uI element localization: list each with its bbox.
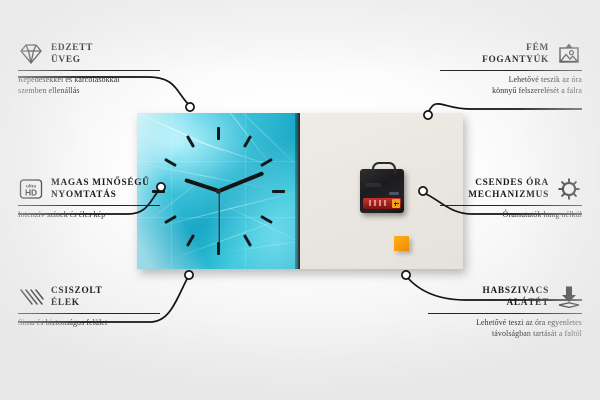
minute-hand bbox=[218, 171, 264, 193]
picture-hanger-icon bbox=[556, 41, 582, 67]
clock-tick bbox=[185, 234, 194, 247]
gear-icon bbox=[556, 176, 582, 202]
svg-text:HD: HD bbox=[25, 187, 37, 197]
foam-pad-arrow-icon bbox=[556, 284, 582, 310]
connector-metal-handles bbox=[428, 104, 582, 113]
clock-center-cap bbox=[216, 189, 221, 194]
clock-back-panel bbox=[300, 113, 463, 269]
callout-subtitle: Lehetővé teszik az óra könnyű felszerelé… bbox=[440, 75, 582, 96]
foam-spacer-pad bbox=[394, 236, 409, 251]
clock-face-panel bbox=[137, 113, 300, 269]
callout-subtitle: Repedésekkel és karcolásokkal szemben el… bbox=[18, 75, 160, 96]
mechanism-hook bbox=[372, 162, 396, 174]
callout-foam-pad[interactable]: HABSZIVACS ALÁTÉT Lehetővé teszi az óra … bbox=[428, 284, 582, 339]
clock-tick bbox=[217, 127, 220, 140]
callout-silent-mechanism[interactable]: CSENDES ÓRA MECHANIZMUS Óramutatók hang … bbox=[440, 176, 582, 221]
infographic-canvas: EDZETT ÜVEG Repedésekkel és karcolásokka… bbox=[0, 0, 600, 400]
connector-dot-tempered-glass bbox=[186, 103, 194, 111]
quartz-clock-mechanism bbox=[360, 169, 404, 213]
callout-title: FÉM FOGANTYÚK bbox=[482, 42, 549, 67]
callout-title: HABSZIVACS ALÁTÉT bbox=[483, 285, 549, 310]
polished-edges-icon bbox=[18, 284, 44, 310]
callout-rule bbox=[18, 205, 160, 206]
callout-metal-handles[interactable]: FÉM FOGANTYÚK Lehetővé teszik az óra kön… bbox=[440, 41, 582, 96]
clock-tick bbox=[242, 234, 251, 247]
callout-tempered-glass[interactable]: EDZETT ÜVEG Repedésekkel és karcolásokka… bbox=[18, 41, 160, 96]
battery-plus-terminal bbox=[392, 199, 400, 208]
callout-rule bbox=[440, 205, 582, 206]
diamond-icon bbox=[18, 41, 44, 67]
callout-rule bbox=[440, 70, 582, 71]
callout-subtitle: Intenzív színek és éles kép bbox=[18, 210, 160, 221]
clock-tick bbox=[242, 135, 251, 148]
clock-tick bbox=[272, 190, 285, 193]
callout-subtitle: Sima és biztonságos felület bbox=[18, 318, 160, 329]
callout-rule bbox=[18, 313, 160, 314]
callout-subtitle: Óramutatók hang nélkül bbox=[440, 210, 582, 221]
callout-hd-print[interactable]: ultra HD MAGAS MINŐSÉGŰ NYOMTATÁS Intenz… bbox=[18, 176, 160, 221]
callout-polished-edges[interactable]: CSISZOLT ÉLEK Sima és biztonságos felüle… bbox=[18, 284, 160, 329]
callout-subtitle: Lehetővé teszi az óra egyenletes távolsá… bbox=[428, 318, 582, 339]
callout-title: MAGAS MINŐSÉGŰ NYOMTATÁS bbox=[51, 177, 150, 202]
callout-rule bbox=[18, 70, 160, 71]
second-hand bbox=[218, 191, 219, 247]
callout-title: EDZETT ÜVEG bbox=[51, 42, 93, 67]
callout-rule bbox=[428, 313, 582, 314]
ultra-hd-icon: ultra HD bbox=[18, 176, 44, 202]
callout-title: CSENDES ÓRA MECHANIZMUS bbox=[468, 177, 549, 202]
callout-title: CSISZOLT ÉLEK bbox=[51, 285, 102, 310]
connector-dot-foam-pad bbox=[402, 271, 410, 279]
connector-dot-polished-edges bbox=[185, 271, 193, 279]
product-image bbox=[137, 113, 463, 269]
aa-battery bbox=[363, 198, 401, 209]
